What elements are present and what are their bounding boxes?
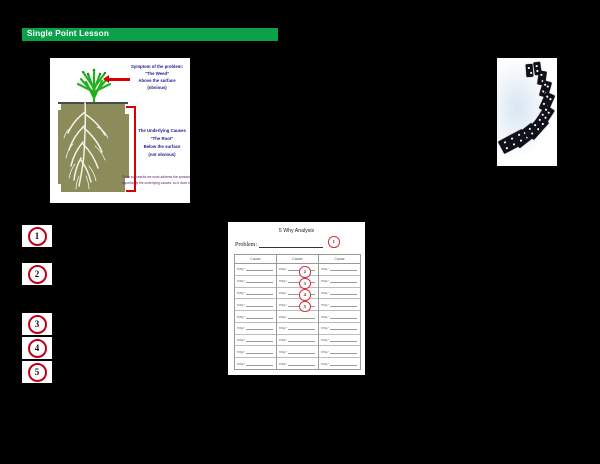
why-row[interactable]: Why? — [235, 323, 276, 335]
callout-marker-4[interactable]: 4 — [22, 337, 52, 359]
why-row[interactable]: Why? — [319, 323, 360, 335]
callout-marker-1[interactable]: 1 — [22, 225, 52, 247]
why-input[interactable] — [330, 267, 357, 271]
weed-plant-icon — [74, 68, 114, 104]
why-row[interactable]: Why? — [319, 311, 360, 323]
callout-number: 3 — [28, 315, 47, 334]
why-row[interactable]: Why? — [235, 264, 276, 276]
callout-number: 1 — [28, 227, 47, 246]
why-row[interactable]: Why? — [319, 358, 360, 369]
why-input[interactable] — [288, 362, 315, 366]
form-title: 5 Why Analysis — [228, 228, 365, 234]
cause-line-1: The Underlying Causes — [136, 128, 188, 133]
why-input[interactable] — [330, 279, 357, 283]
why-label: Why? — [237, 350, 245, 354]
form-marker-number: 5 — [304, 304, 306, 309]
why-label: Why? — [321, 362, 329, 366]
callout-marker-2[interactable]: 2 — [22, 263, 52, 285]
callout-number: 2 — [28, 265, 47, 284]
falling-dominoes-image — [497, 58, 557, 166]
why-row[interactable]: Why? — [319, 288, 360, 300]
why-label: Why? — [321, 350, 329, 354]
why-label: Why? — [237, 326, 245, 330]
why-input[interactable] — [246, 267, 273, 271]
page-title: Single Point Lesson — [22, 30, 109, 38]
why-input[interactable] — [246, 326, 273, 330]
cause-line-4: (not obvious) — [136, 152, 188, 157]
why-label: Why? — [321, 267, 329, 271]
why-input[interactable] — [330, 362, 357, 366]
five-why-analysis-form: 5 Why Analysis Problem: Cause Why? Why? … — [228, 222, 365, 375]
why-row[interactable]: Why? — [319, 299, 360, 311]
why-label: Why? — [321, 303, 329, 307]
why-label: Why? — [279, 291, 287, 295]
callout-number: 4 — [28, 339, 47, 358]
why-label: Why? — [321, 326, 329, 330]
form-marker-number: 2 — [304, 269, 306, 274]
why-row[interactable]: Why? — [319, 276, 360, 288]
why-row[interactable]: Why? — [277, 346, 318, 358]
form-marker-2[interactable]: 2 — [299, 266, 311, 278]
why-input[interactable] — [246, 315, 273, 319]
cause-line-2: “The Root” — [136, 136, 188, 141]
why-label: Why? — [237, 362, 245, 366]
problem-row: Problem: — [235, 241, 323, 248]
why-label: Why? — [237, 338, 245, 342]
form-marker-4[interactable]: 4 — [299, 289, 311, 301]
why-row[interactable]: Why? — [235, 299, 276, 311]
callout-marker-5[interactable]: 5 — [22, 361, 52, 383]
why-label: Why? — [279, 338, 287, 342]
callout-marker-3[interactable]: 3 — [22, 313, 52, 335]
problem-label: Problem: — [235, 242, 257, 248]
domino-tile — [526, 64, 534, 77]
why-input[interactable] — [246, 279, 273, 283]
why-input[interactable] — [288, 326, 315, 330]
callout-number: 5 — [28, 363, 47, 382]
cause-line-3: Below the surface — [136, 144, 188, 149]
note-line-1: To be successful we must address the sym… — [122, 175, 188, 179]
problem-input[interactable] — [259, 241, 323, 248]
why-label: Why? — [321, 315, 329, 319]
form-marker-3[interactable]: 3 — [299, 278, 311, 290]
why-label: Why? — [321, 279, 329, 283]
slide-canvas: Single Point Lesson — [0, 0, 600, 464]
note-line-2: importantly the underlying causes, so it… — [122, 181, 188, 185]
cause-column-3: Cause Why? Why? Why? Why? Why? Why? Why?… — [319, 255, 360, 369]
why-label: Why? — [279, 267, 287, 271]
why-input[interactable] — [330, 303, 357, 307]
form-marker-5[interactable]: 5 — [299, 301, 311, 313]
why-row[interactable]: Why? — [277, 299, 318, 311]
form-marker-number: 1 — [333, 239, 335, 244]
why-input[interactable] — [330, 326, 357, 330]
why-row[interactable]: Why? — [235, 276, 276, 288]
form-marker-number: 4 — [304, 292, 306, 297]
why-input[interactable] — [330, 315, 357, 319]
page-title-bar: Single Point Lesson — [22, 28, 278, 41]
symptom-line-2: “The Weed” — [128, 71, 186, 76]
why-input[interactable] — [246, 362, 273, 366]
why-label: Why? — [237, 291, 245, 295]
why-row[interactable]: Why? — [319, 264, 360, 276]
form-marker-1[interactable]: 1 — [328, 236, 340, 248]
form-marker-number: 3 — [304, 281, 306, 286]
why-input[interactable] — [330, 338, 357, 342]
symptom-arrow-icon — [108, 78, 130, 81]
why-row[interactable]: Why? — [235, 311, 276, 323]
why-row[interactable]: Why? — [277, 358, 318, 369]
cause-table: Cause Why? Why? Why? Why? Why? Why? Why?… — [234, 254, 361, 370]
why-row[interactable]: Why? — [235, 335, 276, 347]
why-label: Why? — [279, 315, 287, 319]
why-label: Why? — [321, 291, 329, 295]
weed-root-analogy-image: Symptom of the problem: “The Weed” Above… — [50, 58, 190, 203]
why-input[interactable] — [288, 338, 315, 342]
why-label: Why? — [279, 303, 287, 307]
why-row[interactable]: Why? — [277, 311, 318, 323]
symptom-line-3: Above the surface — [128, 78, 186, 83]
why-label: Why? — [237, 315, 245, 319]
cause-column-1: Cause Why? Why? Why? Why? Why? Why? Why?… — [235, 255, 277, 369]
why-label: Why? — [279, 326, 287, 330]
why-row[interactable]: Why? — [319, 335, 360, 347]
why-input[interactable] — [330, 350, 357, 354]
why-label: Why? — [279, 279, 287, 283]
column-header: Cause — [319, 255, 360, 264]
why-label: Why? — [237, 303, 245, 307]
why-input[interactable] — [288, 350, 315, 354]
cause-prefix: The — [138, 128, 147, 133]
why-label: Why? — [321, 338, 329, 342]
why-row[interactable]: Why? — [277, 335, 318, 347]
why-label: Why? — [237, 267, 245, 271]
why-row[interactable]: Why? — [235, 346, 276, 358]
why-row[interactable]: Why? — [277, 264, 318, 276]
why-input[interactable] — [330, 291, 357, 295]
why-input[interactable] — [246, 338, 273, 342]
why-label: Why? — [279, 350, 287, 354]
cause-column-2: Cause Why? Why? Why? Why? Why? Why? Why?… — [277, 255, 319, 369]
why-row[interactable]: Why? — [277, 276, 318, 288]
symptom-line-4: (obvious) — [128, 85, 186, 90]
column-header: Cause — [235, 255, 276, 264]
why-row[interactable]: Why? — [235, 288, 276, 300]
why-input[interactable] — [246, 350, 273, 354]
root-cause-bracket — [126, 106, 136, 192]
symptom-line-1: Symptom of the problem: — [128, 64, 186, 69]
why-input[interactable] — [246, 291, 273, 295]
why-label: Why? — [279, 362, 287, 366]
why-row[interactable]: Why? — [277, 323, 318, 335]
why-row[interactable]: Why? — [319, 346, 360, 358]
column-header: Cause — [277, 255, 318, 264]
root-system-icon — [61, 102, 127, 192]
why-label: Why? — [237, 279, 245, 283]
why-input[interactable] — [288, 315, 315, 319]
cause-underlined: Underlying Causes — [147, 128, 186, 133]
why-input[interactable] — [246, 303, 273, 307]
why-row[interactable]: Why? — [235, 358, 276, 369]
why-row[interactable]: Why? — [277, 288, 318, 300]
